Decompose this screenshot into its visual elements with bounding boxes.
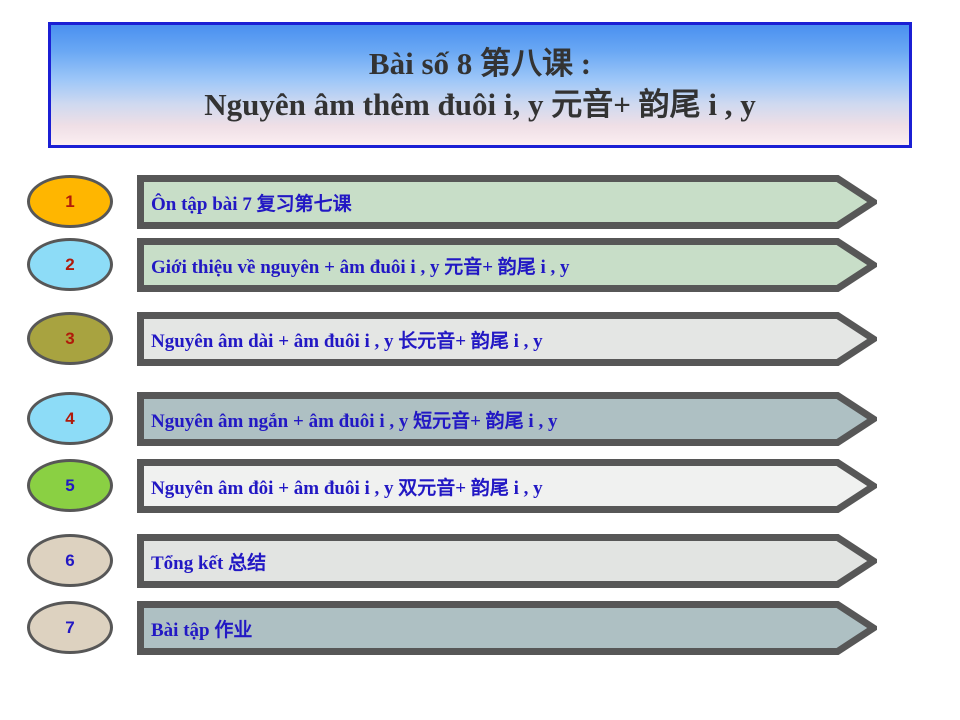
agenda-step-badge-3[interactable]: 3	[27, 312, 113, 365]
agenda-step-number: 2	[65, 255, 74, 275]
agenda-banner-7[interactable]: Bài tập 作业	[137, 601, 877, 655]
agenda-row: 6Tổng kết 总结	[0, 534, 960, 596]
agenda-step-badge-2[interactable]: 2	[27, 238, 113, 291]
agenda-banner-label: Giới thiệu về nguyên + âm đuôi i , y 元音+…	[137, 252, 570, 279]
agenda-banner-2[interactable]: Giới thiệu về nguyên + âm đuôi i , y 元音+…	[137, 238, 877, 292]
agenda-step-badge-7[interactable]: 7	[27, 601, 113, 654]
agenda-step-number: 1	[65, 192, 74, 212]
agenda-row: 2Giới thiệu về nguyên + âm đuôi i , y 元音…	[0, 238, 960, 300]
agenda-banner-1[interactable]: Ôn tập bài 7 复习第七课	[137, 175, 877, 229]
agenda-row: 5Nguyên âm đôi + âm đuôi i , y 双元音+ 韵尾 i…	[0, 459, 960, 521]
agenda-step-badge-5[interactable]: 5	[27, 459, 113, 512]
agenda-banner-4[interactable]: Nguyên âm ngắn + âm đuôi i , y 短元音+ 韵尾 i…	[137, 392, 877, 446]
agenda-banner-label: Nguyên âm dài + âm đuôi i , y 长元音+ 韵尾 i …	[137, 326, 543, 353]
slide-title-line-1: Bài số 8 第八课 :	[369, 47, 591, 82]
slide-title-line-2: Nguyên âm thêm đuôi i, y 元音+ 韵尾 i , y	[204, 88, 756, 123]
agenda-banner-label: Tổng kết 总结	[137, 548, 266, 575]
agenda-step-badge-4[interactable]: 4	[27, 392, 113, 445]
agenda-step-number: 3	[65, 329, 74, 349]
agenda-banner-6[interactable]: Tổng kết 总结	[137, 534, 877, 588]
agenda-step-number: 4	[65, 409, 74, 429]
agenda-step-number: 5	[65, 476, 74, 496]
agenda-row: 7Bài tập 作业	[0, 601, 960, 663]
agenda-banner-3[interactable]: Nguyên âm dài + âm đuôi i , y 长元音+ 韵尾 i …	[137, 312, 877, 366]
slide-title-box: Bài số 8 第八课 : Nguyên âm thêm đuôi i, y …	[48, 22, 912, 148]
agenda-step-number: 7	[65, 618, 74, 638]
agenda-row: 4Nguyên âm ngắn + âm đuôi i , y 短元音+ 韵尾 …	[0, 392, 960, 454]
agenda-banner-label: Nguyên âm ngắn + âm đuôi i , y 短元音+ 韵尾 i…	[137, 406, 557, 433]
agenda-banner-label: Nguyên âm đôi + âm đuôi i , y 双元音+ 韵尾 i …	[137, 473, 543, 500]
agenda-banner-5[interactable]: Nguyên âm đôi + âm đuôi i , y 双元音+ 韵尾 i …	[137, 459, 877, 513]
agenda-row: 1Ôn tập bài 7 复习第七课	[0, 175, 960, 237]
agenda-banner-label: Ôn tập bài 7 复习第七课	[137, 189, 352, 216]
agenda-step-number: 6	[65, 551, 74, 571]
agenda-row: 3Nguyên âm dài + âm đuôi i , y 长元音+ 韵尾 i…	[0, 312, 960, 374]
agenda-step-badge-1[interactable]: 1	[27, 175, 113, 228]
agenda-step-badge-6[interactable]: 6	[27, 534, 113, 587]
agenda-banner-label: Bài tập 作业	[137, 615, 252, 642]
